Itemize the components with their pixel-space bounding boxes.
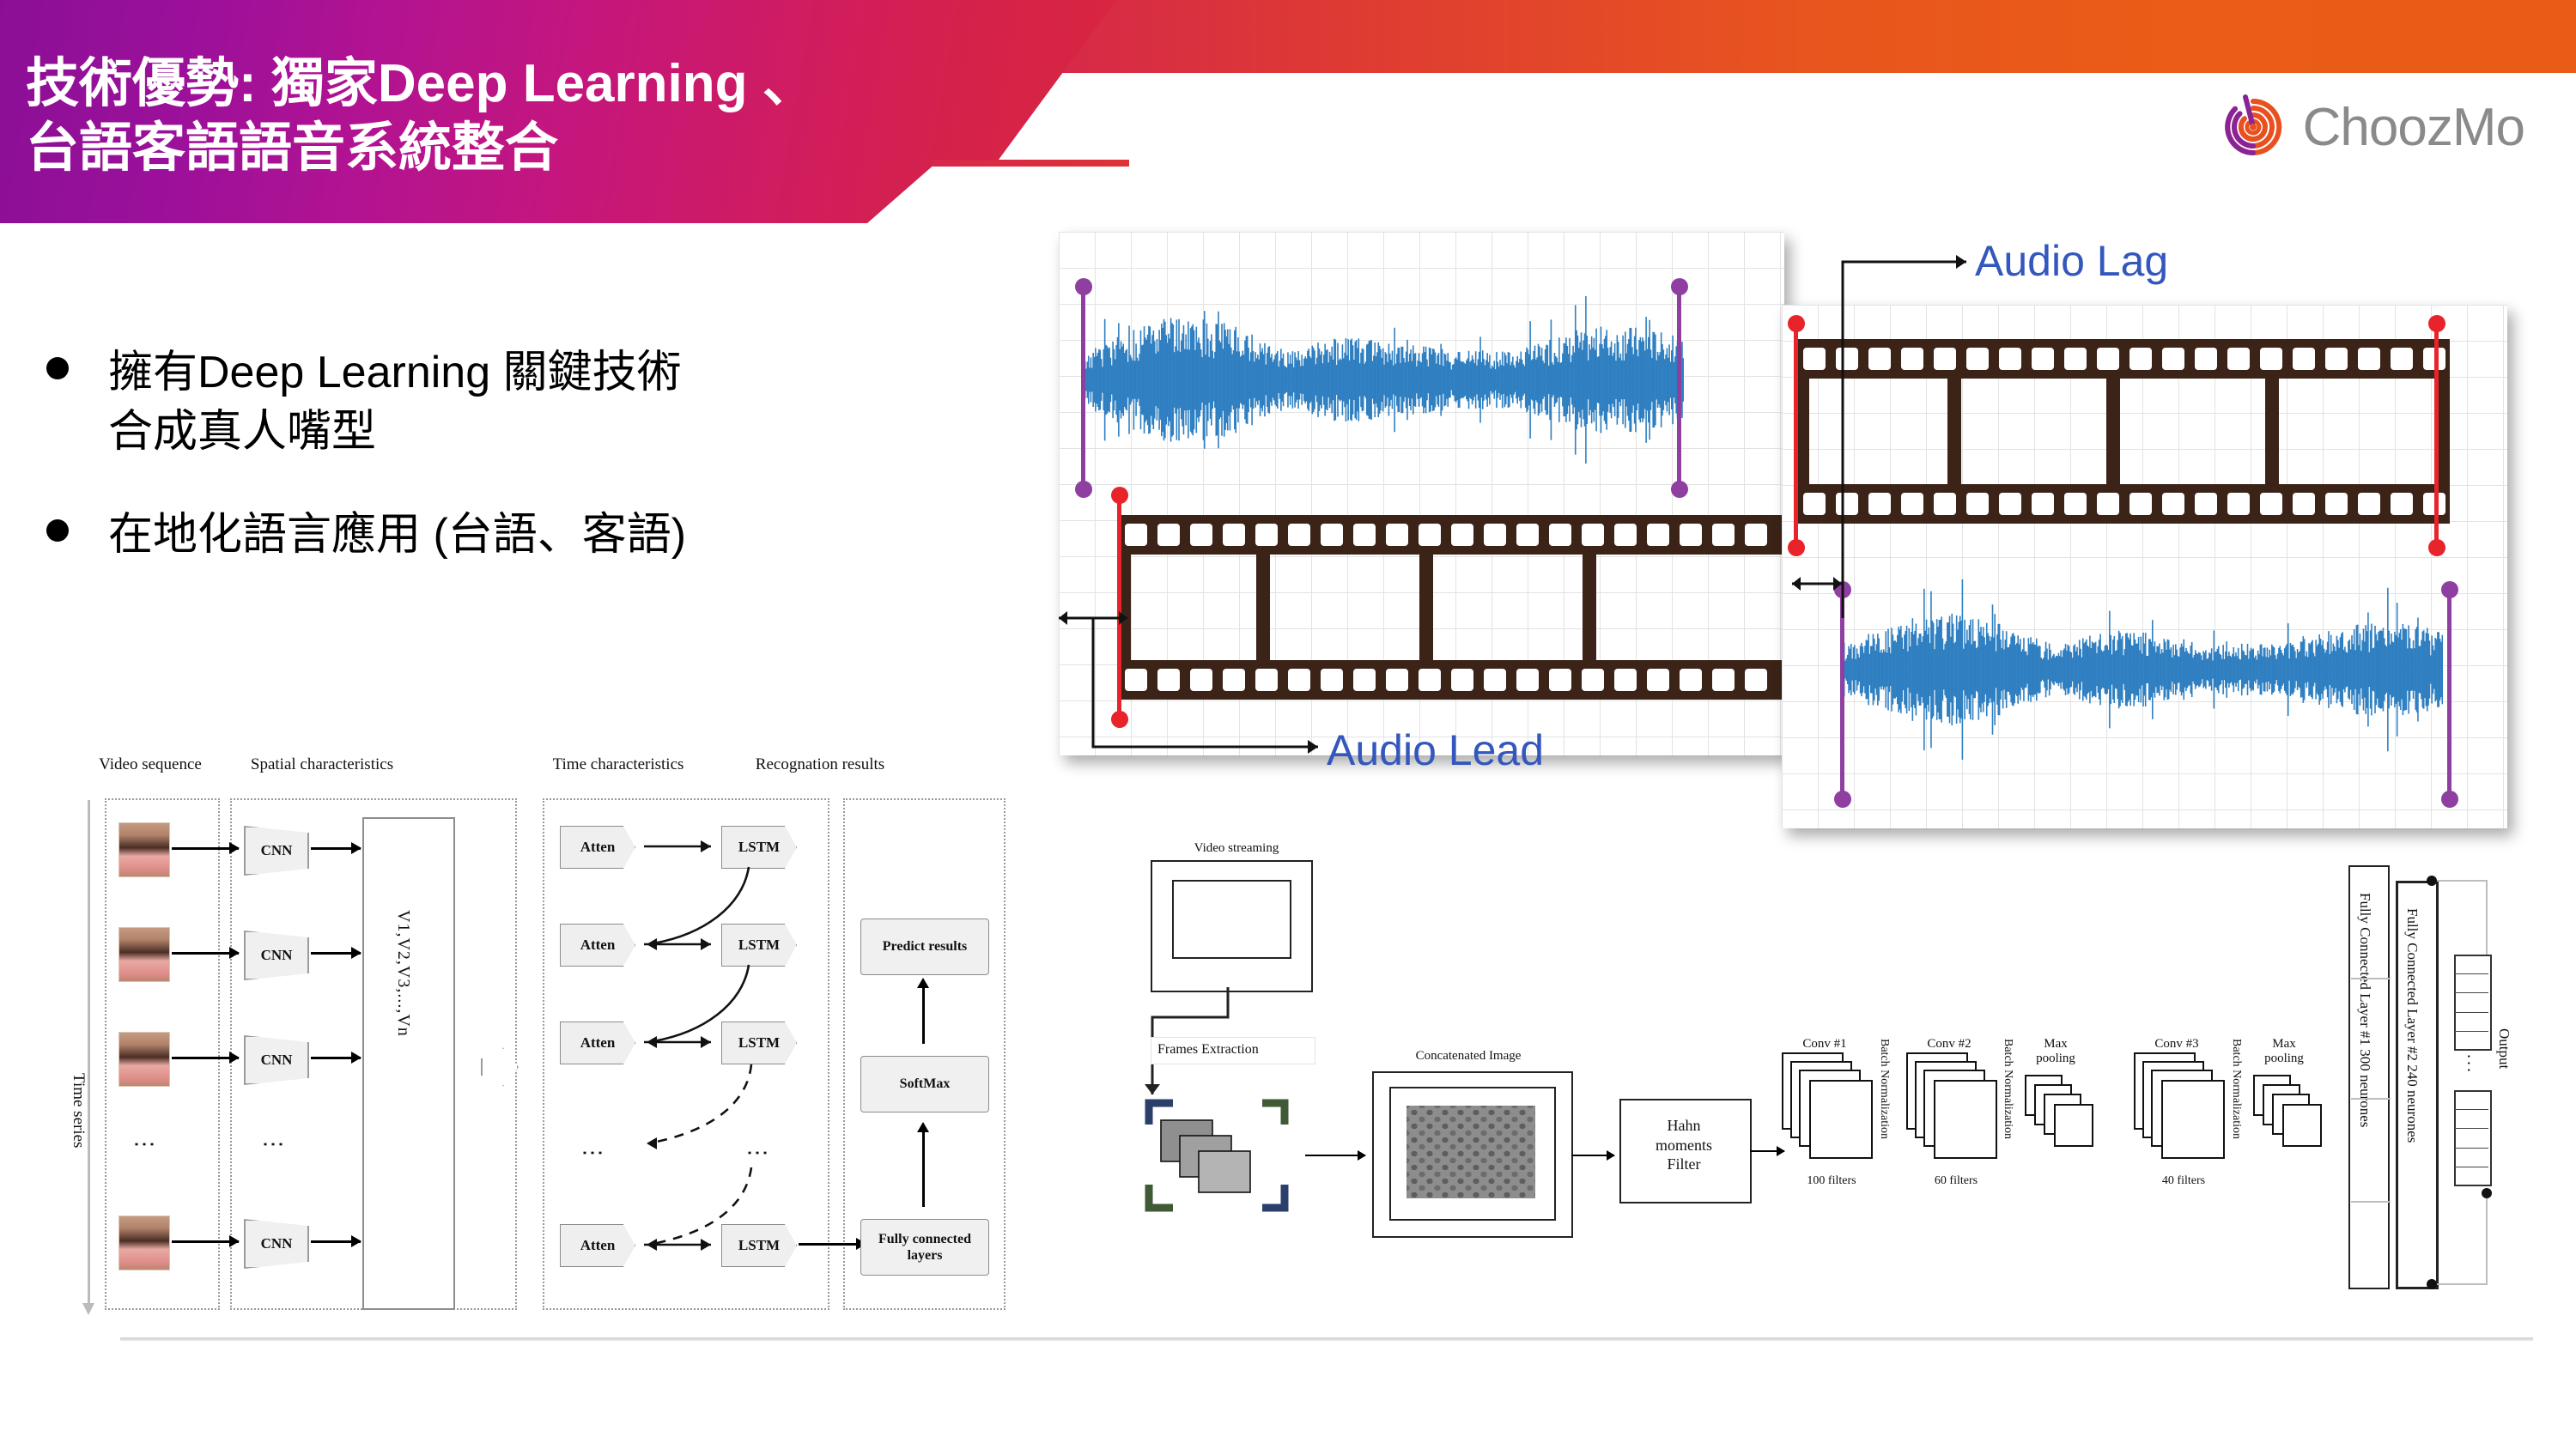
output-ellipsis: ...	[2463, 1054, 2482, 1075]
mouth-frame	[118, 1216, 170, 1270]
audio-end-marker-lag	[2447, 588, 2451, 798]
conv2-filters-count: 60 filters	[1909, 1174, 2003, 1188]
cnn-pipeline-diagram: Video streaming Frames Extraction Concat…	[1142, 841, 2490, 1322]
brand-name: ChoozMo	[2303, 97, 2524, 158]
audio-end-dot-top-lag	[2441, 581, 2458, 598]
audio-start-marker	[1081, 285, 1085, 489]
page-title: 技術優勢: 獨家Deep Learning 、 台語客語語音系統整合	[26, 52, 970, 181]
col-title-recognation-results: Recognation results	[743, 755, 897, 774]
col-title-spatial: Spatial characteristics	[245, 755, 399, 774]
conv3-filters-count: 40 filters	[2136, 1174, 2231, 1188]
video-start-dot-top	[1111, 487, 1128, 504]
softmax-block: SoftMax	[860, 1056, 989, 1113]
maxpool-1-label: Max pooling	[2023, 1037, 2088, 1067]
footer-divider	[120, 1337, 2533, 1341]
audio-end-marker	[1677, 285, 1681, 489]
audio-lead-label: Audio Lead	[1327, 725, 1544, 775]
conv3-filter-stack	[2134, 1052, 2237, 1164]
conv2-label: Conv #2	[1906, 1037, 1992, 1052]
batch-norm-1-label: Batch Normalization	[1877, 1039, 1891, 1139]
lstm-architecture-diagram: Video sequence Spatial characteristics T…	[60, 755, 1030, 1322]
brand-logo: ChoozMo	[2219, 93, 2524, 161]
time-axis-line	[88, 800, 90, 1307]
bullet-list: 擁有Deep Learning 關鍵技術 合成真人嘴型 在地化語言應用 (台語、…	[31, 343, 1001, 609]
feature-vector-box	[362, 817, 455, 1310]
video-end-marker-lag	[2434, 322, 2439, 547]
hahn-filter-label: Hahn moments Filter	[1628, 1116, 1740, 1174]
col-title-time-characteristics: Time characteristics	[541, 755, 696, 774]
frame-stack-brackets	[1142, 1094, 1305, 1223]
feature-vector-label: V1,V2,V3,...,Vn	[393, 910, 413, 1037]
video-end-dot-top-lag	[2428, 315, 2445, 332]
batch-norm-2-label: Batch Normalization	[2001, 1039, 2014, 1139]
header-banner: 技術優勢: 獨家Deep Learning 、 台語客語語音系統整合	[0, 0, 2576, 223]
list-item: 擁有Deep Learning 關鍵技術 合成真人嘴型	[31, 343, 1001, 461]
audio-end-dot-bottom	[1671, 481, 1688, 498]
audio-lag-gap-arrow	[1782, 562, 1902, 605]
bullet-dot-icon	[46, 519, 69, 542]
concatenated-mouth-grid	[1406, 1106, 1535, 1198]
bullet-text: 在地化語言應用 (台語、客語)	[108, 506, 686, 565]
audio-lag-label: Audio Lag	[1975, 236, 2168, 286]
concatenated-image-label: Concatenated Image	[1374, 1049, 1563, 1064]
maxpool-2-label: Max pooling	[2251, 1037, 2317, 1067]
fully-connected-layers-block: Fully connected layers	[860, 1219, 989, 1276]
bullet-text: 擁有Deep Learning 關鍵技術 合成真人嘴型	[108, 343, 682, 461]
conv1-filters-count: 100 filters	[1784, 1174, 1879, 1188]
bullet-dot-icon	[46, 357, 69, 379]
video-end-dot-bottom-lag	[2428, 539, 2445, 556]
time-axis-arrow	[82, 1303, 94, 1315]
conv1-label: Conv #1	[1782, 1037, 1868, 1052]
vertical-ellipsis: ⋮	[139, 1133, 150, 1155]
mouth-frame	[118, 927, 170, 982]
time-series-axis-label: Time series	[69, 1073, 88, 1148]
mouth-frame	[118, 1032, 170, 1087]
cnn-block: CNN	[244, 1219, 309, 1269]
maxpool-1-stack	[2025, 1075, 2111, 1156]
spiral-target-icon	[2219, 93, 2287, 161]
maxpool-2-stack	[2253, 1075, 2339, 1156]
audio-start-dot-bottom	[1075, 481, 1092, 498]
audio-start-marker-lag	[1840, 588, 1844, 798]
fc-connections	[2342, 858, 2493, 1305]
list-item: 在地化語言應用 (台語、客語)	[31, 506, 1001, 565]
video-streaming-inner-box	[1172, 880, 1291, 959]
cnn-block: CNN	[244, 826, 309, 876]
video-streaming-label: Video streaming	[1163, 841, 1309, 856]
col-title-video-sequence: Video sequence	[86, 755, 215, 774]
batch-norm-3-label: Batch Normalization	[2229, 1039, 2243, 1139]
lstm-connections	[541, 807, 833, 1305]
audio-lag-leader	[1795, 232, 2138, 618]
conv2-filter-stack	[1906, 1052, 2009, 1164]
frames-extraction-label: Frames Extraction	[1157, 1042, 1312, 1058]
conv1-filter-stack	[1782, 1052, 1885, 1164]
audio-lead-leader	[1043, 541, 1644, 824]
conv3-label: Conv #3	[2134, 1037, 2220, 1052]
predict-results-block: Predict results	[860, 919, 989, 975]
output-label: Output	[2495, 1028, 2512, 1069]
cnn-block: CNN	[244, 931, 309, 980]
audio-start-dot-top	[1075, 278, 1092, 295]
vertical-ellipsis: ⋮	[268, 1133, 279, 1155]
audio-end-dot-bottom-lag	[2441, 791, 2458, 808]
audio-end-dot-top	[1671, 278, 1688, 295]
waveform-audio-lead	[1083, 279, 1684, 481]
mouth-frame	[118, 822, 170, 877]
audio-start-dot-bottom-lag	[1834, 791, 1851, 808]
cnn-block: CNN	[244, 1035, 309, 1085]
